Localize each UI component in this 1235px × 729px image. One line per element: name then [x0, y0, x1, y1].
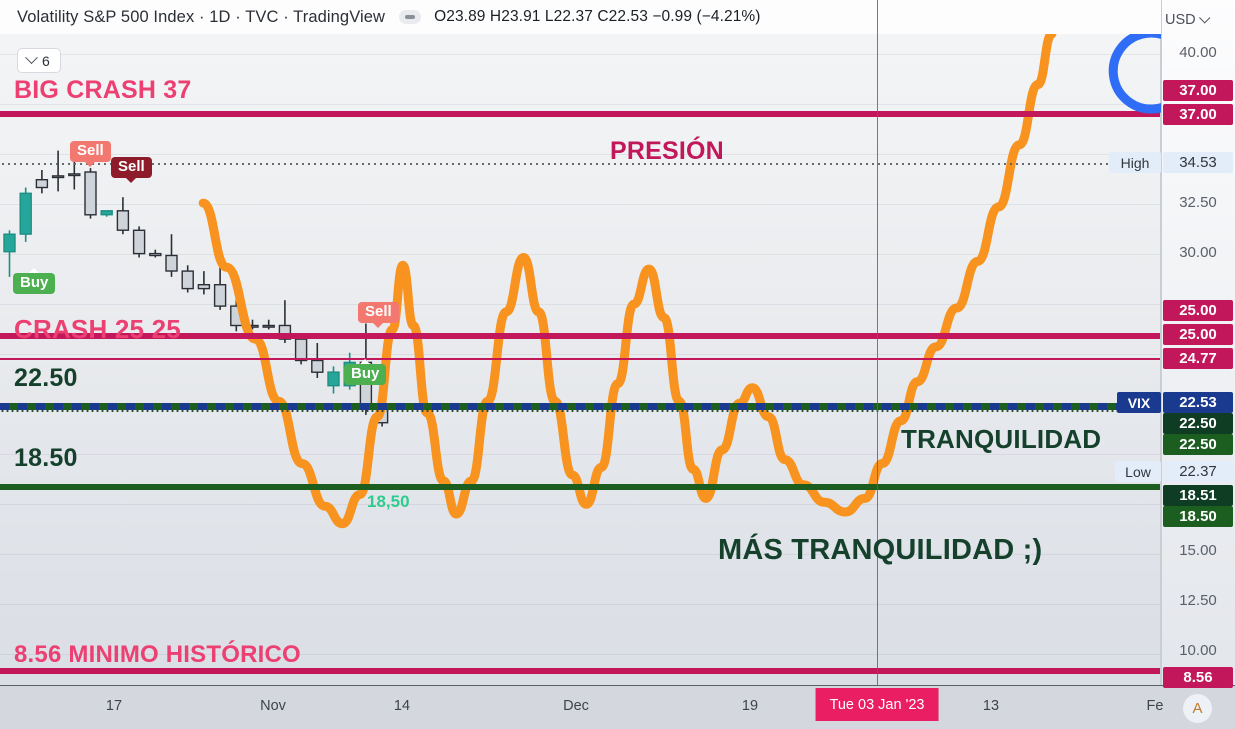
price-tag-22-53[interactable]: 22.53 — [1163, 392, 1233, 413]
tradingview-chart-screenshot: Volatility S&P 500 Index · 1D · TVC · Tr… — [0, 0, 1235, 729]
candle-body — [20, 193, 31, 234]
price-tick: 30.00 — [1161, 244, 1235, 261]
level-line-37[interactable] — [0, 111, 1161, 117]
annotation-mas-tranquilidad[interactable]: MÁS TRANQUILIDAD ;) — [718, 534, 1042, 567]
time-axis[interactable]: 17Nov14Dec1913FeTue 03 Jan '23 — [0, 685, 1235, 729]
level-line-2477[interactable] — [0, 358, 1161, 360]
level-line-1850[interactable] — [0, 484, 1161, 490]
candle-body — [150, 254, 161, 256]
price-tag-25-00[interactable]: 25.00 — [1163, 324, 1233, 345]
candle-body — [117, 211, 128, 230]
price-tag-22-37[interactable]: 22.37 — [1163, 461, 1233, 482]
annotation-tranquilidad[interactable]: TRANQUILIDAD — [901, 424, 1101, 455]
inline-label-1850: 18,50 — [367, 492, 410, 512]
price-tick: 32.50 — [1161, 194, 1235, 211]
time-label: 17 — [106, 698, 122, 714]
price-tick: 12.50 — [1161, 592, 1235, 609]
price-tag-8-56[interactable]: 8.56 — [1163, 667, 1233, 688]
candle-body — [4, 234, 15, 252]
price-tick: 10.00 — [1161, 642, 1235, 659]
legend-count: 6 — [42, 53, 50, 69]
time-axis-selected-label[interactable]: Tue 03 Jan '23 — [816, 688, 939, 721]
ohlc-readout: O23.89 H23.91 L22.37 C22.53 −0.99 (−4.21… — [434, 8, 761, 26]
level-line-high-dotted — [0, 163, 1161, 165]
price-tag-37-00[interactable]: 37.00 — [1163, 104, 1233, 125]
price-tag-34-53[interactable]: 34.53 — [1163, 152, 1233, 173]
price-axis[interactable]: USD 40.0032.5030.0015.0012.5010.00 37.00… — [1161, 0, 1235, 685]
price-tick: 40.00 — [1161, 44, 1235, 61]
candle-body — [215, 285, 226, 306]
price-tag-37-00[interactable]: 37.00 — [1163, 80, 1233, 101]
time-label: 13 — [983, 698, 999, 714]
price-axis-divider — [1161, 0, 1162, 685]
symbol-title[interactable]: Volatility S&P 500 Index · 1D · TVC · Tr… — [17, 8, 385, 27]
trade-marker-sell-1[interactable]: Sell — [111, 157, 152, 178]
candle-body — [36, 180, 47, 188]
candle-body — [182, 271, 193, 289]
blue-arc-drawing — [1096, 34, 1161, 114]
chart-pane[interactable]: 18,50 BIG CRASH 37PRESIÓNCRASH 25 2522.5… — [0, 34, 1161, 685]
candle-body — [263, 326, 274, 328]
legend-collapse-badge[interactable]: 6 — [17, 48, 61, 73]
candle-body — [328, 372, 339, 386]
trade-marker-buy-4[interactable]: Buy — [344, 364, 386, 385]
time-label: Fe — [1147, 698, 1164, 714]
price-tag-18-50[interactable]: 18.50 — [1163, 506, 1233, 527]
crosshair-vertical-header — [877, 0, 878, 34]
annotation-crash-25-25[interactable]: CRASH 25 25 — [14, 314, 181, 345]
crosshair-vertical — [877, 34, 878, 685]
level-line-2250-vix[interactable] — [0, 403, 1161, 410]
price-tag-22-50[interactable]: 22.50 — [1163, 434, 1233, 455]
price-tick: 15.00 — [1161, 542, 1235, 559]
time-label: 14 — [394, 698, 410, 714]
price-tag-18-51[interactable]: 18.51 — [1163, 485, 1233, 506]
candle-body — [198, 285, 209, 289]
chevron-down-icon — [1199, 12, 1210, 23]
price-tag-22-50[interactable]: 22.50 — [1163, 413, 1233, 434]
time-label: Dec — [563, 698, 589, 714]
annotation-level-1850[interactable]: 18.50 — [14, 444, 78, 473]
annotation-big-crash-37[interactable]: BIG CRASH 37 — [14, 76, 191, 105]
time-label: Nov — [260, 698, 286, 714]
trade-marker-sell-3[interactable]: Sell — [358, 302, 399, 323]
trade-marker-buy-2[interactable]: Buy — [13, 273, 55, 294]
candle-body — [312, 361, 323, 373]
axis-chip-high: High — [1109, 152, 1161, 173]
annotation-level-2250[interactable]: 22.50 — [14, 364, 78, 393]
candle-body — [101, 211, 112, 215]
candle-body — [85, 172, 96, 215]
candle-body — [134, 230, 145, 253]
eye-icon[interactable] — [399, 10, 421, 24]
candle-body — [166, 256, 177, 272]
trade-marker-sell-0[interactable]: Sell — [70, 141, 111, 162]
annotation-minimo-historico[interactable]: 8.56 MINIMO HISTÓRICO — [14, 641, 301, 669]
candle-body — [69, 174, 80, 176]
currency-selector[interactable]: USD — [1165, 12, 1208, 28]
axis-chip-vix: VIX — [1117, 392, 1161, 413]
currency-label: USD — [1165, 12, 1196, 28]
candle-body — [53, 176, 64, 178]
chevron-down-icon — [25, 51, 38, 64]
price-tag-25-00[interactable]: 25.00 — [1163, 300, 1233, 321]
annotation-presion[interactable]: PRESIÓN — [610, 137, 724, 166]
chart-header: Volatility S&P 500 Index · 1D · TVC · Tr… — [0, 0, 1161, 34]
price-tag-24-77[interactable]: 24.77 — [1163, 348, 1233, 369]
time-label: 19 — [742, 698, 758, 714]
alerts-button[interactable]: A — [1183, 694, 1212, 723]
axis-chip-low: Low — [1115, 461, 1161, 482]
